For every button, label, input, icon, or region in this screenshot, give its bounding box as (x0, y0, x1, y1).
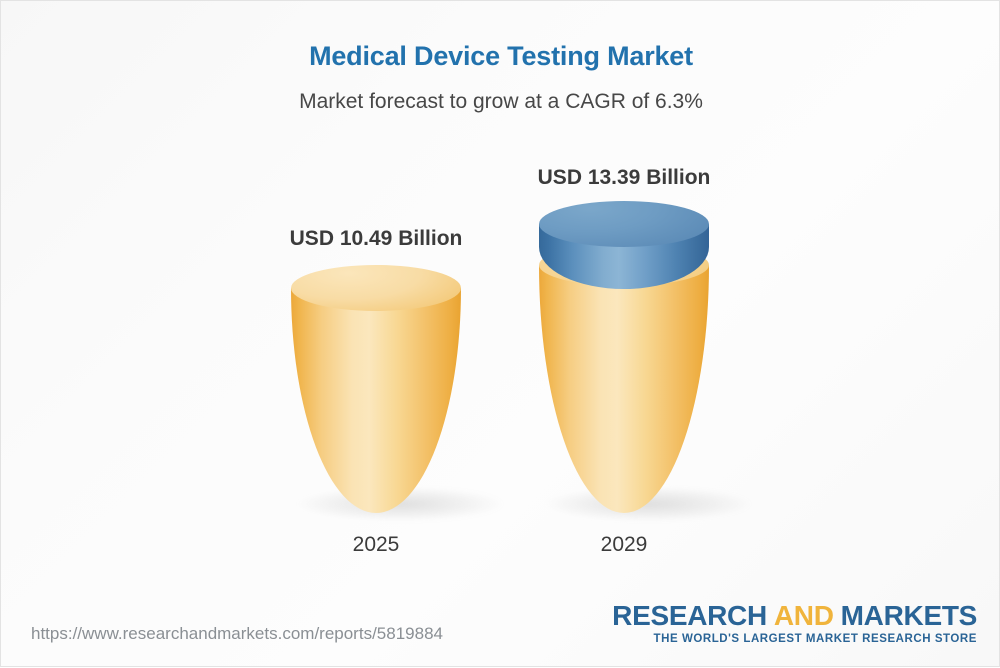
x-axis-label-2029: 2029 (534, 533, 714, 557)
x-axis-label-2025: 2025 (286, 533, 466, 557)
bar-segment-base-2029 (539, 265, 709, 513)
logo-word-and: AND (774, 600, 834, 631)
research-and-markets-logo[interactable]: RESEARCHANDMARKETS THE WORLD'S LARGEST M… (612, 601, 977, 645)
bar-top-cap-2025 (291, 265, 461, 311)
bar-cylinder-2029[interactable] (539, 201, 709, 515)
bar-value-label-2029: USD 13.39 Billion (524, 166, 724, 190)
plot-area: USD 10.49 Billion 2025 USD 13.39 Billion (1, 1, 1000, 668)
source-url[interactable]: https://www.researchandmarkets.com/repor… (31, 624, 443, 644)
bar-top-cap-2029 (539, 201, 709, 247)
chart-canvas: Medical Device Testing Market Market for… (0, 0, 1000, 667)
logo-wordmark: RESEARCHANDMARKETS (612, 601, 977, 630)
logo-word-research: RESEARCH (612, 600, 767, 631)
logo-tagline: THE WORLD'S LARGEST MARKET RESEARCH STOR… (612, 633, 977, 645)
bar-value-label-2025: USD 10.49 Billion (276, 227, 476, 251)
bar-cylinder-2025[interactable] (291, 265, 461, 515)
bar-barrel-2025 (291, 288, 461, 513)
logo-word-markets: MARKETS (841, 600, 977, 631)
